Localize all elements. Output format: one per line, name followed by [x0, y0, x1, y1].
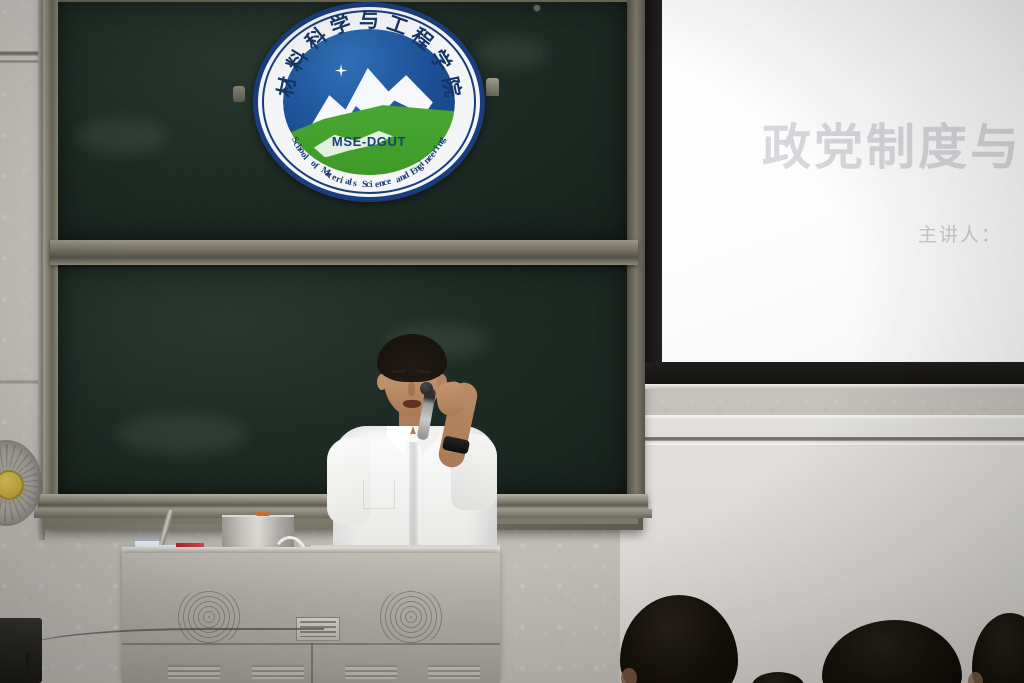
- speaker-grille-right: [378, 588, 444, 646]
- screen-frame-left: [645, 0, 662, 365]
- blackboard-divider-rail: [50, 240, 638, 265]
- eye-left: [394, 377, 405, 381]
- logo-english-char: s: [352, 179, 357, 189]
- projection-screen-surface: [661, 0, 1024, 362]
- nose: [408, 382, 415, 396]
- logo-english-text: School of Materials Science and Engineer…: [253, 2, 485, 202]
- logo-english-char: i: [370, 180, 373, 190]
- console-vent: [252, 665, 304, 679]
- chalk-smudge: [77, 118, 167, 154]
- console-vent: [168, 665, 220, 679]
- shirt-pocket: [363, 480, 395, 509]
- board-clip-icon: [486, 78, 499, 96]
- board-clip-icon: [233, 86, 245, 102]
- wall-seam: [620, 437, 1024, 441]
- wall-fan: [0, 440, 42, 526]
- screen-frame-bottom: [645, 362, 1024, 384]
- logo-english-char: e: [386, 177, 393, 188]
- wall-seam-highlight: [620, 443, 1024, 445]
- slide-title: 政党制度与: [762, 108, 1022, 179]
- mouth: [403, 400, 421, 408]
- lecturer: [325, 330, 505, 575]
- chalk-smudge: [117, 414, 247, 454]
- school-logo-decal: MSE-DGUT 材料科学与工程学院 School of Materials S…: [253, 2, 485, 202]
- orange-cap: [256, 512, 270, 516]
- equipment-cable: [26, 652, 63, 683]
- classroom-photo: MSE-DGUT 材料科学与工程学院 School of Materials S…: [0, 0, 1024, 683]
- chalk-smudge: [477, 38, 547, 68]
- lecturer-hair: [377, 334, 447, 382]
- console-vent: [345, 665, 397, 679]
- frame-screw-icon: [534, 5, 540, 11]
- student-ear: [621, 668, 637, 683]
- eye-right: [419, 377, 430, 381]
- slide-subtitle: 主讲人：: [918, 220, 1002, 247]
- wall-trim: [0, 380, 40, 384]
- screen-frame-bottom-highlight: [645, 384, 1024, 389]
- console-vent: [428, 665, 480, 679]
- wall-highlight-edge: [620, 415, 1024, 418]
